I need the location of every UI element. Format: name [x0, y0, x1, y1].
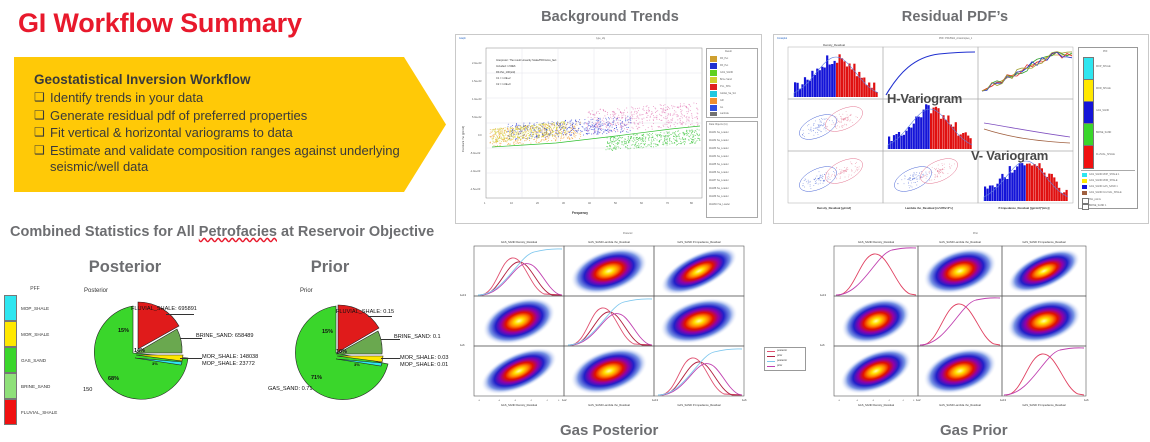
pie-label-gas-count: 150	[83, 387, 92, 393]
residual-legend-label: BRINE_SAND	[1096, 131, 1111, 134]
svg-text:Interpreter: The result Linear: Interpreter: The result Linearity Scale/…	[496, 58, 557, 62]
svg-text:GAS_SAND Density_Residual: GAS_SAND Density_Residual	[501, 403, 538, 407]
svg-text:10: 10	[510, 201, 513, 205]
pff-label: GAS_SAND	[21, 358, 46, 363]
svg-text:1e6: 1e6	[460, 343, 465, 347]
workflow-bullet: Identify trends in your data	[34, 90, 446, 107]
svg-text:-5: -5	[838, 400, 841, 402]
svg-text:-4: -4	[498, 400, 501, 402]
gas-prior-matrix: GAS_SAND Density_Residual GAS_SAND Lambd…	[818, 238, 1148, 422]
pff-swatch-brine-sand	[4, 373, 17, 399]
svg-text:-1: -1	[546, 400, 549, 402]
svg-text:Constant rho [g/cm3]: Constant rho [g/cm3]	[461, 126, 465, 152]
pff-swatch-gas-sand	[4, 347, 17, 373]
pff-legend-item: GAS_SAND	[4, 347, 66, 373]
residual-sublegend-label: Hist_points	[1089, 198, 1101, 201]
svg-text:GAS_SAND P-Impedance_Residual: GAS_SAND P-Impedance_Residual	[1022, 240, 1066, 244]
svg-text:5.0e+02: 5.0e+02	[472, 115, 482, 119]
pie-label-mor: MOR_SHALE: 0.03	[400, 355, 449, 361]
pff-legend-item: FLUVIAL_SHALE	[4, 399, 66, 425]
pff-legend-item: MOR_SHALE	[4, 321, 66, 347]
residual-pdfs-figure: Crossplot PDF: PFF/Blob_Anisotropies_1 D…	[773, 34, 1149, 224]
bt-legend: Result RF_Pet RF_Pet GAS_SAND Brine Sand…	[706, 48, 758, 118]
svg-text:40: 40	[588, 201, 591, 205]
svg-text:30: 30	[562, 201, 565, 205]
pie-label-fluvial: FLUVIAL_SHALE: 695891	[131, 306, 197, 312]
pie-label-mop: MOP_SHALE: 0.01	[400, 362, 448, 368]
workflow-banner: Geostatistical Inversion Workflow Identi…	[14, 57, 446, 192]
residual-sublegend-label: GAS_SAND MOR_SHALE	[1089, 179, 1117, 182]
svg-text:-5.0e+02: -5.0e+02	[470, 151, 481, 155]
svg-text:GAS_SAND P-Impedance_Residual: GAS_SAND P-Impedance_Residual	[677, 403, 721, 407]
residual-sublegend-label: GAS_SAND GAS_SAND 1	[1089, 185, 1118, 188]
pff-legend: PFF MOP_SHALE MOR_SHALE GAS_SAND BRINE_S…	[4, 286, 66, 425]
svg-text:Frequency: Frequency	[572, 211, 588, 215]
gp-legend-label: posterior	[777, 359, 787, 362]
svg-text:Included: 1.50E6: Included: 1.50E6	[496, 64, 516, 68]
residual-legend-label: MOP_SHALE	[1096, 65, 1111, 68]
svg-text:P-Impedance_Residual [(g/cm3)*: P-Impedance_Residual [(g/cm3)*(m/s)]	[999, 206, 1050, 210]
svg-text:-1.0e+03: -1.0e+03	[470, 169, 481, 173]
combined-stats-heading: Combined Statistics for All Petrofacies …	[10, 224, 434, 240]
pie-pct-gas: 68%	[108, 376, 119, 382]
svg-text:1e13: 1e13	[460, 293, 466, 297]
pff-legend-item: BRINE_SAND	[4, 373, 66, 399]
rp-window-label: Crossplot	[777, 37, 787, 40]
residual-legend-title: PFF	[1103, 50, 1108, 53]
posterior-pie-heading: Posterior	[60, 258, 190, 277]
svg-text:1e2: 1e2	[916, 398, 921, 402]
svg-text:1e13: 1e13	[652, 398, 658, 402]
svg-text:Density_Residual [g/cm3]: Density_Residual [g/cm3]	[817, 206, 851, 210]
bt-window-label: Graph	[459, 37, 466, 40]
residual-legend: PFF MOP_SHALE MOR_SHALE GAS_SAND BRINE_S…	[1078, 47, 1138, 209]
svg-text:80: 80	[690, 201, 693, 205]
svg-text:50: 50	[614, 201, 617, 205]
svg-text:-3: -3	[872, 400, 875, 402]
svg-text:GAS_SAND Density_Residual: GAS_SAND Density_Residual	[858, 403, 895, 407]
v-variogram-label: V- Variogram	[971, 148, 1048, 163]
prior-pie-chart: Prior 15% 10% 3% 71% FLUVIAL_SHALE: 0.15…	[278, 288, 478, 413]
rp-plot-title: PDF: PFF/Blob_Anisotropies_1	[939, 37, 972, 40]
pff-label: MOR_SHALE	[21, 332, 49, 337]
pff-swatch-fluvial-shale	[4, 399, 17, 425]
bt-layer-list[interactable]: Data Objects (11) Well#1 Sa_Loader Well#…	[706, 121, 758, 218]
svg-text:70: 70	[666, 201, 669, 205]
pie-pct-brine: 10%	[336, 349, 347, 355]
pff-label: MOP_SHALE	[21, 306, 49, 311]
svg-text:Density_Residual: Density_Residual	[823, 43, 845, 47]
svg-text:-5: -5	[478, 400, 481, 402]
stats-heading-petrofacies: Petrofacies	[199, 224, 277, 240]
prior-pie-heading: Prior	[275, 258, 385, 277]
svg-text:1: 1	[484, 201, 486, 205]
svg-text:GAS_SAND Lambda rho_Residual: GAS_SAND Lambda rho_Residual	[939, 403, 981, 407]
svg-text:C2 = 1.0E+0: C2 = 1.0E+0	[496, 82, 511, 86]
svg-text:2.0e+03: 2.0e+03	[472, 61, 482, 65]
svg-text:1e13: 1e13	[1000, 398, 1006, 402]
gas-posterior-matrix: GAS_SAND Density_Residual GAS_SAND Lambd…	[458, 238, 810, 422]
svg-text:-1: -1	[902, 400, 905, 402]
workflow-heading: Geostatistical Inversion Workflow	[34, 72, 446, 87]
svg-text:1e6: 1e6	[820, 343, 825, 347]
workflow-bullet: Generate residual pdf of preferred prope…	[34, 108, 446, 125]
gp-col2-label: GAS_SAND Lambda rho_Residual	[588, 240, 630, 244]
pie-pct-fluvial: 15%	[322, 329, 333, 335]
prior-pie-subtitle: Prior	[300, 288, 313, 294]
gp-title: Posterior	[623, 232, 633, 235]
gas-prior-figure: Prior GAS_SAND Density_Residual GAS_SAND…	[818, 232, 1148, 422]
svg-text:GAS_SAND Lambda rho_Residual: GAS_SAND Lambda rho_Residual	[939, 240, 981, 244]
svg-text:-2: -2	[888, 400, 891, 402]
stats-heading-pre: Combined Statistics for All	[10, 224, 199, 240]
workflow-bullet-list: Identify trends in your data Generate re…	[14, 90, 446, 176]
gp-legend-label: posterior	[777, 349, 787, 352]
svg-text:1.0e+03: 1.0e+03	[472, 97, 482, 101]
pie-pct-gas: 71%	[311, 375, 322, 381]
svg-text:GAS_SAND P-Impedance_Residual: GAS_SAND P-Impedance_Residual	[1022, 403, 1066, 407]
svg-text:0: 0	[558, 400, 560, 402]
svg-text:60: 60	[640, 201, 643, 205]
pff-legend-title: PFF	[4, 286, 66, 292]
svg-text:Lambda rho_Residual [m^2/Pa^2*: Lambda rho_Residual [m^2/Pa^2*s]	[905, 206, 953, 210]
svg-text:-1.5e+03: -1.5e+03	[470, 187, 481, 191]
residual-legend-label: MOR_SHALE	[1096, 87, 1111, 90]
bt-plot-title: type_obj	[596, 37, 605, 40]
svg-text:RF-Pet_100(std): RF-Pet_100(std)	[496, 70, 515, 74]
residual-sublegend-label: GAS_SAND FLUVIAL_SHALE	[1089, 191, 1122, 194]
pie-label-brine: BRINE_SAND: 658489	[196, 333, 254, 339]
svg-text:1e2: 1e2	[562, 398, 567, 402]
gp-legend-label: prior	[777, 364, 782, 367]
svg-text:-3: -3	[514, 400, 517, 402]
gas-posterior-figure: Posterior	[458, 232, 810, 422]
residual-sublegend-label: GAS_SAND MOP_SHALE 1	[1089, 173, 1119, 176]
svg-text:20: 20	[536, 201, 539, 205]
pie-label-brine: BRINE_SAND: 0.1	[394, 334, 441, 340]
background-trends-figure: Graph type_obj 2.0e+031.5e+03 1.0e+035.0…	[455, 34, 762, 224]
pff-label: FLUVIAL_SHALE	[21, 410, 57, 415]
svg-text:-4: -4	[856, 400, 859, 402]
svg-text:1.5e+03: 1.5e+03	[472, 79, 482, 83]
svg-text:1e6: 1e6	[1084, 398, 1089, 402]
svg-text:C1 = 1.0E+2: C1 = 1.0E+2	[496, 76, 511, 80]
gp-legend: posterior prior posterior prior	[764, 347, 806, 371]
svg-text:0: 0	[913, 400, 915, 402]
workflow-bullet: Estimate and validate composition ranges…	[34, 143, 446, 176]
pie-label-mor: MOR_SHALE: 148038	[202, 354, 258, 360]
gp-col3-label: GAS_SAND P-Impedance_Residual	[677, 240, 721, 244]
pie-label-gas: GAS_SAND: 0.71	[268, 386, 312, 392]
pie-pct-mor: 3%	[152, 361, 158, 366]
residual-pdfs-heading: Residual PDF’s	[775, 9, 1135, 25]
page-title: GI Workflow Summary	[18, 8, 302, 39]
gp-col1-label: GAS_SAND Density_Residual	[501, 240, 538, 244]
svg-text:-2: -2	[530, 400, 533, 402]
pie-pct-brine: 14%	[134, 348, 145, 354]
residual-legend-label: FLUVIAL_SHALE	[1096, 153, 1115, 156]
pff-label: BRINE_SAND	[21, 384, 50, 389]
pie-label-fluvial: FLUVIAL_SHALE: 0.15	[336, 309, 394, 315]
residual-sublegend-label: BRINE_SAND 1	[1089, 204, 1106, 207]
pff-swatch-mop-shale	[4, 295, 17, 321]
residual-legend-label: GAS_SAND	[1096, 109, 1109, 112]
svg-text:1e13: 1e13	[820, 293, 826, 297]
gp-legend-label: prior	[777, 354, 782, 357]
posterior-pie-subtitle: Posterior	[84, 288, 108, 294]
svg-text:1e6: 1e6	[742, 398, 747, 402]
svg-text:GAS_SAND Lambda rho_Residual: GAS_SAND Lambda rho_Residual	[588, 403, 630, 407]
svg-text:0.0: 0.0	[478, 133, 482, 137]
gpr-title: Prior	[973, 232, 978, 235]
pie-label-mop: MOP_SHALE: 23772	[202, 361, 255, 367]
pff-legend-item: MOP_SHALE	[4, 295, 66, 321]
pff-swatch-mor-shale	[4, 321, 17, 347]
background-trends-heading: Background Trends	[455, 9, 765, 25]
svg-text:GAS_SAND Density_Residual: GAS_SAND Density_Residual	[858, 240, 895, 244]
posterior-pie-chart: Posterior 15% 14% 3% 68% FLUVIAL_SHALE: …	[70, 288, 280, 413]
pie-pct-mor: 3%	[354, 362, 360, 367]
pie-pct-fluvial: 15%	[118, 328, 129, 334]
workflow-bullet: Fit vertical & horizontal variograms to …	[34, 125, 446, 142]
gas-prior-caption: Gas Prior	[940, 422, 1008, 439]
stats-heading-post: at Reservoir Objective	[277, 224, 434, 240]
h-variogram-label: H-Variogram	[887, 91, 962, 106]
gas-posterior-caption: Gas Posterior	[560, 422, 658, 439]
